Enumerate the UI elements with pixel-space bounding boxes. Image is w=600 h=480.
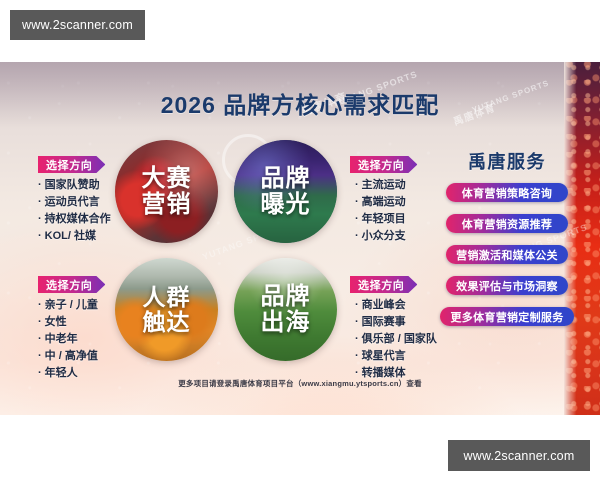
watermark-top-text: www.2scanner.com [22, 18, 133, 32]
watermark-bottom: www.2scanner.com [448, 440, 590, 471]
list-item-label: 中老年 [45, 334, 78, 345]
circle-brand-exposure[interactable]: 品牌 曝光 [234, 140, 337, 243]
list-item[interactable]: ·中老年 [38, 334, 98, 345]
list-item[interactable]: ·主流运动 [355, 180, 406, 191]
list-item-label: 国家队赞助 [45, 180, 100, 191]
list-item[interactable]: ·运动员代言 [38, 197, 111, 208]
circle-caption-line2: 触达 [143, 310, 191, 334]
bullet-dot-icon: · [355, 231, 359, 242]
circle-caption-line1: 人群 [143, 285, 191, 309]
list-item-label: 主流运动 [362, 180, 406, 191]
list-item[interactable]: ·俱乐部 / 国家队 [355, 334, 437, 345]
list-item[interactable]: ·持权媒体合作 [38, 214, 111, 225]
watermark-top: www.2scanner.com [10, 10, 145, 40]
direction-list-sport-type: ·主流运动 ·高端运动 ·年轻项目 ·小众分支 [355, 180, 406, 248]
list-item-label: 运动员代言 [45, 197, 100, 208]
list-item-label: 小众分支 [362, 231, 406, 242]
circle-caption-audience: 人群 触达 [143, 285, 191, 334]
service-pill-resource-recommendation[interactable]: 体育营销资源推荐 [446, 214, 568, 233]
circle-caption-line1: 大赛 [142, 166, 192, 191]
list-item-label: 高端运动 [362, 197, 406, 208]
list-item[interactable]: ·国际赛事 [355, 317, 437, 328]
bullet-dot-icon: · [355, 214, 359, 225]
circle-caption-global: 品牌 出海 [261, 284, 311, 335]
direction-banner-label: 选择方向 [358, 277, 404, 293]
list-item-label: 女性 [45, 317, 67, 328]
circle-caption-line2: 曝光 [261, 192, 311, 217]
bullet-dot-icon: · [355, 334, 359, 345]
list-item[interactable]: ·中 / 高净值 [38, 351, 98, 362]
list-item-label: 亲子 / 儿童 [45, 300, 98, 311]
list-item-label: KOL/ 社媒 [45, 231, 96, 242]
bullet-dot-icon: · [38, 231, 42, 242]
bullet-dot-icon: · [38, 300, 42, 311]
circle-caption-competition: 大赛 营销 [142, 166, 192, 217]
list-item-label: 中 / 高净值 [45, 351, 98, 362]
bullet-dot-icon: · [38, 317, 42, 328]
list-item-label: 年轻项目 [362, 214, 406, 225]
direction-banner-audience[interactable]: 选择方向 [38, 276, 105, 293]
list-item-label: 持权媒体合作 [45, 214, 111, 225]
list-item[interactable]: ·亲子 / 儿童 [38, 300, 98, 311]
bullet-dot-icon: · [355, 180, 359, 191]
service-pill-evaluation-insight[interactable]: 效果评估与市场洞察 [446, 276, 568, 295]
bullet-dot-icon: · [38, 351, 42, 362]
service-pill-activation-pr[interactable]: 营销激活和媒体公关 [446, 245, 568, 264]
watermark-bottom-text: www.2scanner.com [464, 449, 575, 463]
list-item[interactable]: ·高端运动 [355, 197, 406, 208]
service-pill-strategy-consulting[interactable]: 体育营销策略咨询 [446, 183, 568, 202]
list-item[interactable]: ·女性 [38, 317, 98, 328]
bullet-dot-icon: · [355, 197, 359, 208]
circle-brand-going-global[interactable]: 品牌 出海 [234, 258, 337, 361]
list-item[interactable]: ·年轻项目 [355, 214, 406, 225]
list-item-label: 俱乐部 / 国家队 [362, 334, 437, 345]
circle-competition-marketing[interactable]: 大赛 营销 [115, 140, 218, 243]
direction-list-sponsorship: ·国家队赞助 ·运动员代言 ·持权媒体合作 ·KOL/ 社媒 [38, 180, 111, 248]
circle-caption-line1: 品牌 [261, 166, 311, 191]
direction-list-platform: ·商业峰会 ·国际赛事 ·俱乐部 / 国家队 ·球星代言 ·转播媒体 [355, 300, 437, 385]
circle-caption-line2: 出海 [261, 310, 311, 335]
bullet-dot-icon: · [38, 180, 42, 191]
circle-caption-line1: 品牌 [261, 284, 311, 309]
bullet-dot-icon: · [38, 197, 42, 208]
circle-caption-exposure: 品牌 曝光 [261, 166, 311, 217]
footer-note: 更多项目请登录禹唐体育项目平台（www.xiangmu.ytsports.cn）… [0, 378, 600, 389]
direction-list-audience: ·亲子 / 儿童 ·女性 ·中老年 ·中 / 高净值 ·年轻人 [38, 300, 98, 385]
bullet-dot-icon: · [355, 300, 359, 311]
poster-canvas: YUTANG SPORTS 禹唐体育 YUTANG SPORTS 禹唐体育 YU… [0, 62, 600, 415]
bullet-dot-icon: · [38, 214, 42, 225]
list-item-label: 国际赛事 [362, 317, 406, 328]
bullet-dot-icon: · [355, 351, 359, 362]
list-item[interactable]: ·国家队赞助 [38, 180, 111, 191]
direction-banner-platform[interactable]: 选择方向 [350, 276, 417, 293]
list-item-label: 商业峰会 [362, 300, 406, 311]
list-item[interactable]: ·球星代言 [355, 351, 437, 362]
list-item[interactable]: ·KOL/ 社媒 [38, 231, 111, 242]
services-title: 禹唐服务 [452, 148, 562, 174]
bullet-dot-icon: · [38, 334, 42, 345]
list-item[interactable]: ·商业峰会 [355, 300, 437, 311]
list-item[interactable]: ·小众分支 [355, 231, 406, 242]
list-item-label: 球星代言 [362, 351, 406, 362]
bullet-dot-icon: · [355, 317, 359, 328]
direction-banner-sport-type[interactable]: 选择方向 [350, 156, 417, 173]
direction-banner-label: 选择方向 [358, 157, 404, 173]
direction-banner-label: 选择方向 [46, 157, 92, 173]
service-pill-custom-services[interactable]: 更多体育营销定制服务 [440, 307, 574, 326]
circle-caption-line2: 营销 [142, 192, 192, 217]
circle-audience-reach[interactable]: 人群 触达 [115, 258, 218, 361]
direction-banner-label: 选择方向 [46, 277, 92, 293]
page-title: 2026 品牌方核心需求匹配 [0, 86, 600, 120]
direction-banner-sponsorship[interactable]: 选择方向 [38, 156, 105, 173]
